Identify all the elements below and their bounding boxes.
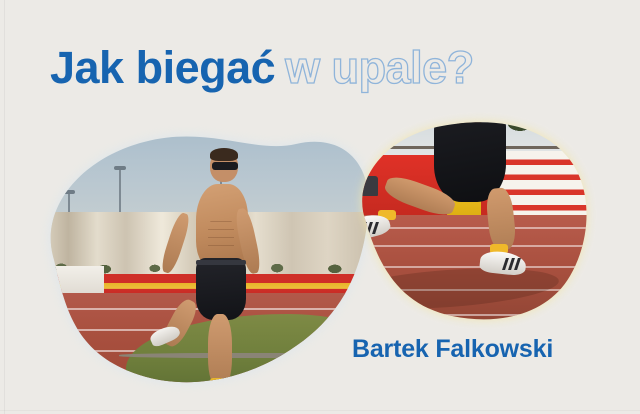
left-scene: [18, 92, 378, 392]
title-solid-part: Jak biegać: [50, 42, 275, 93]
poster-title: Jak biegaćw upale?: [50, 45, 474, 90]
right-blob-photo: [338, 100, 598, 330]
title-outline-part: w upale?: [285, 42, 474, 93]
poster-canvas: Jak biegaćw upale? Bartek Falkowski: [0, 0, 640, 414]
left-edge-divider: [4, 0, 5, 414]
left-blob-photo: [18, 92, 378, 392]
right-scene: [338, 100, 598, 330]
bottom-edge-divider: [0, 410, 640, 411]
author-name: Bartek Falkowski: [352, 335, 553, 364]
